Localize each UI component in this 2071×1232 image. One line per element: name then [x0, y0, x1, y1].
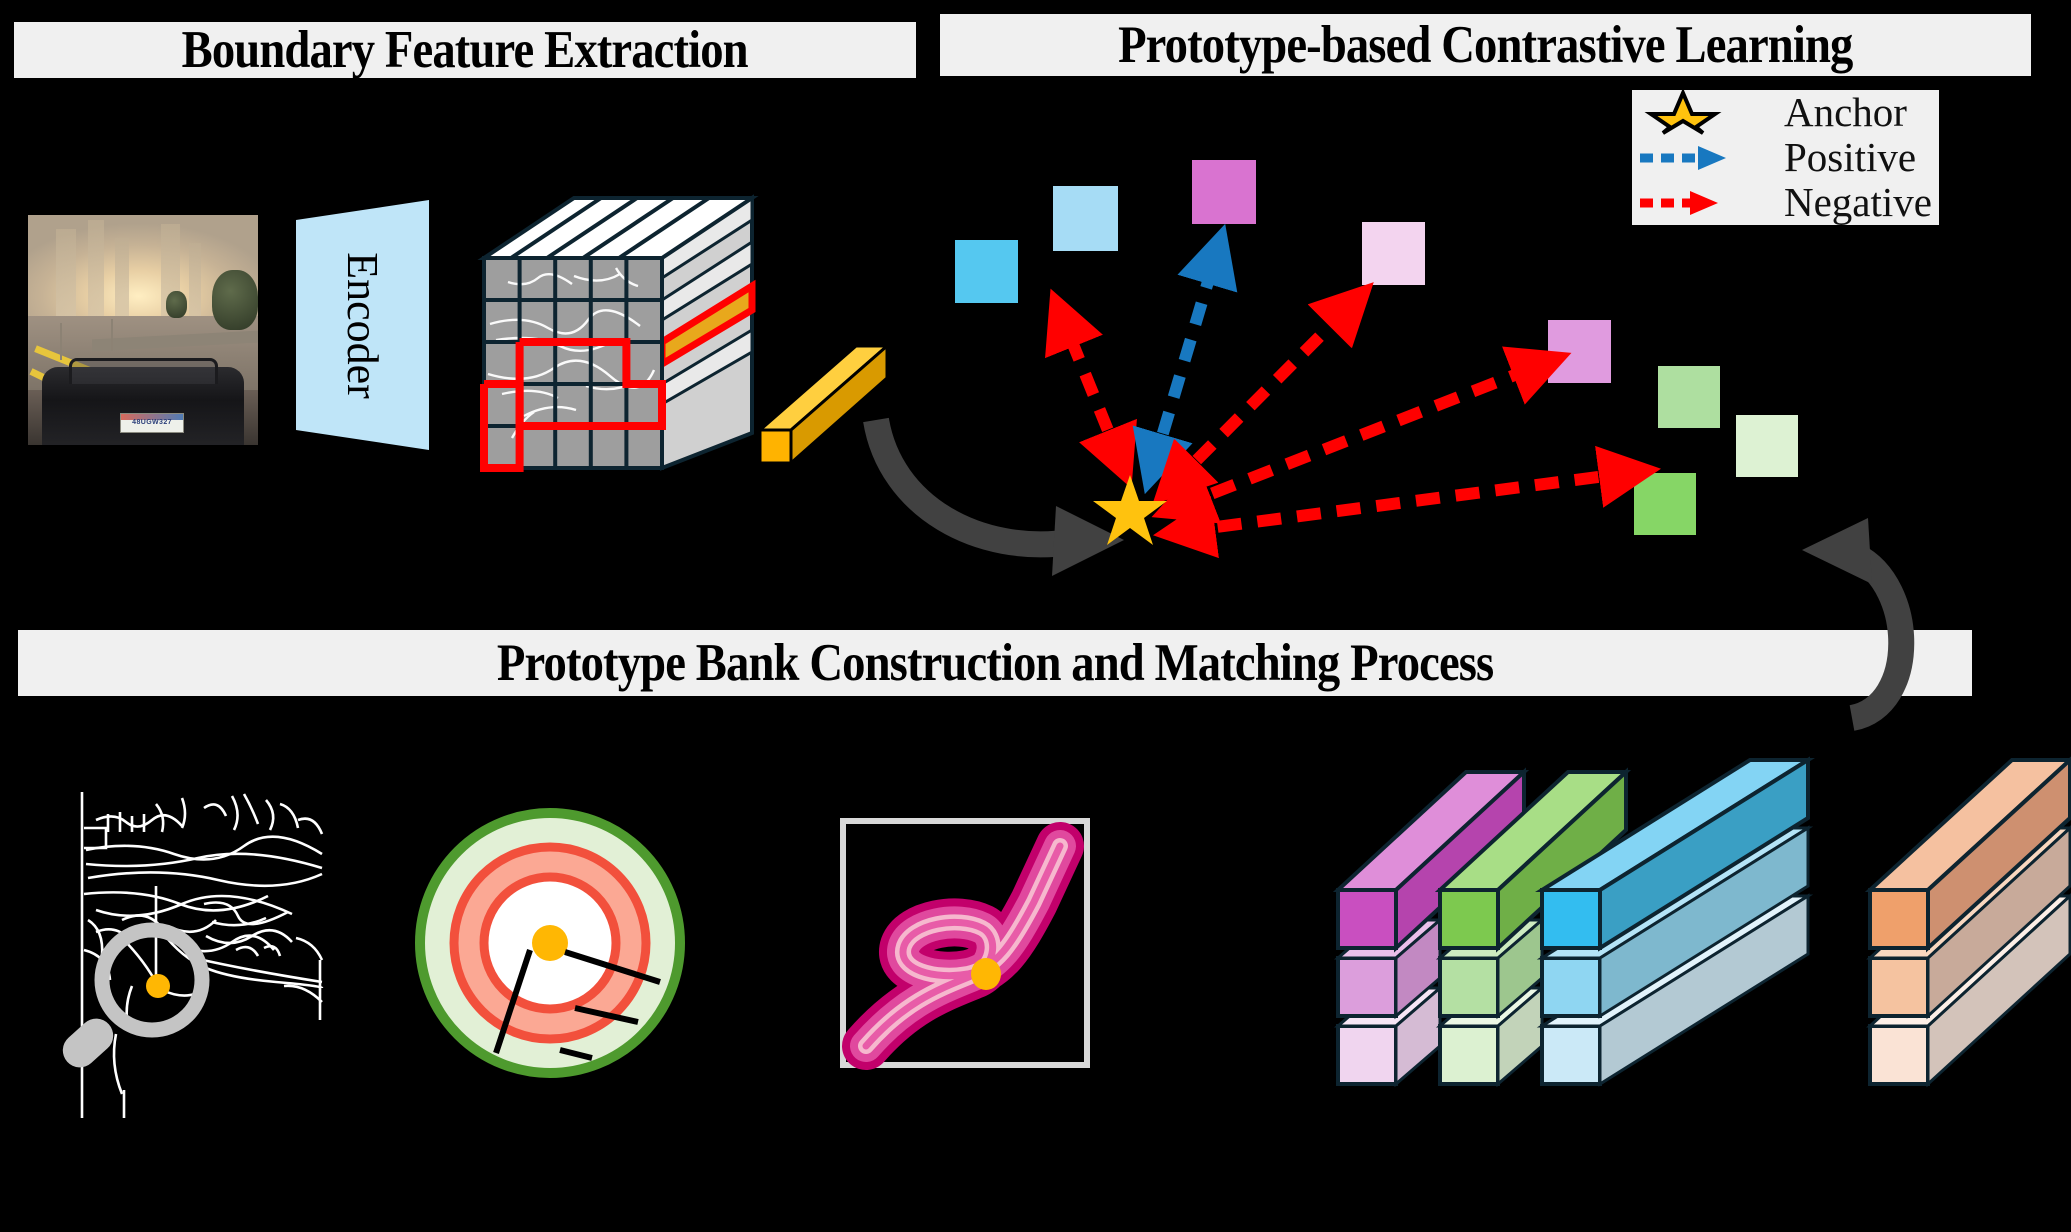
legend-label-anchor: Anchor [1784, 92, 1907, 133]
legend-item-positive: Positive [1632, 135, 1939, 180]
figure-canvas: Boundary Feature Extraction Prototype-ba… [0, 0, 2071, 1232]
banner-label: Prototype-based Contrastive Learning [1118, 15, 1852, 75]
prototype-bank-bars [1330, 730, 2071, 1120]
prototype-blue-1 [955, 240, 1018, 303]
plate-number: 48UGW327 [121, 419, 183, 426]
edge-negative-2 [1170, 300, 1356, 487]
boundary-edge-map [36, 790, 326, 1120]
feature-map-cube [466, 148, 786, 468]
prototype-blue-light-1 [1053, 186, 1118, 251]
building [115, 238, 129, 321]
boundary-distance-patch [840, 818, 1090, 1068]
edge-positive-1 [1152, 248, 1218, 470]
prototype-pink-light-1 [1362, 222, 1425, 285]
encoder-block: Encoder [296, 200, 429, 450]
arrow-dashed-icon [1638, 135, 1778, 180]
anchor-star [1092, 473, 1168, 547]
prototype-green-1 [1658, 366, 1720, 428]
legend-label-negative: Negative [1784, 182, 1932, 223]
edge-negative-3 [1175, 362, 1548, 508]
pole [60, 323, 62, 360]
prototype-green-2 [1634, 473, 1696, 535]
building [88, 220, 104, 321]
legend-label-positive: Positive [1784, 137, 1916, 178]
banner-label: Boundary Feature Extraction [182, 20, 748, 80]
encoder-label: Encoder [337, 252, 388, 399]
building [189, 243, 201, 321]
tree [212, 270, 258, 330]
keypoint-dot [971, 958, 1001, 990]
pole [111, 319, 113, 351]
legend-item-negative: Negative [1632, 180, 1939, 225]
prototype-magenta-2 [1548, 320, 1611, 383]
tree [166, 291, 187, 319]
license-plate: 48UGW327 [120, 413, 184, 433]
windshield [69, 358, 218, 384]
section-banner-prototype-contrastive-learning: Prototype-based Contrastive Learning [940, 14, 2031, 76]
center-keypoint [532, 925, 568, 961]
banner-label: Prototype Bank Construction and Matching… [497, 633, 1493, 693]
edge-negative-4 [1178, 472, 1636, 532]
prototype-magenta-1 [1192, 160, 1256, 224]
neighborhood-ring-diagram [410, 800, 700, 1090]
flow-arrow-bank-to-prototypes [1790, 470, 1990, 730]
input-image: 48UGW327 [28, 215, 258, 445]
building [56, 229, 77, 321]
star-icon [1638, 90, 1778, 135]
section-banner-prototype-bank-construction: Prototype Bank Construction and Matching… [18, 630, 1972, 696]
cube-front-face [484, 258, 662, 468]
arrow-dashed-icon [1638, 180, 1778, 225]
encoder-label-wrap: Encoder [296, 200, 429, 450]
prototype-green-light-1 [1736, 415, 1798, 477]
section-banner-boundary-feature-extraction: Boundary Feature Extraction [14, 22, 916, 78]
keypoint-dot [146, 974, 170, 998]
legend-item-anchor: Anchor [1632, 90, 1939, 135]
legend-box: Anchor Positive Negative [1632, 90, 1939, 225]
